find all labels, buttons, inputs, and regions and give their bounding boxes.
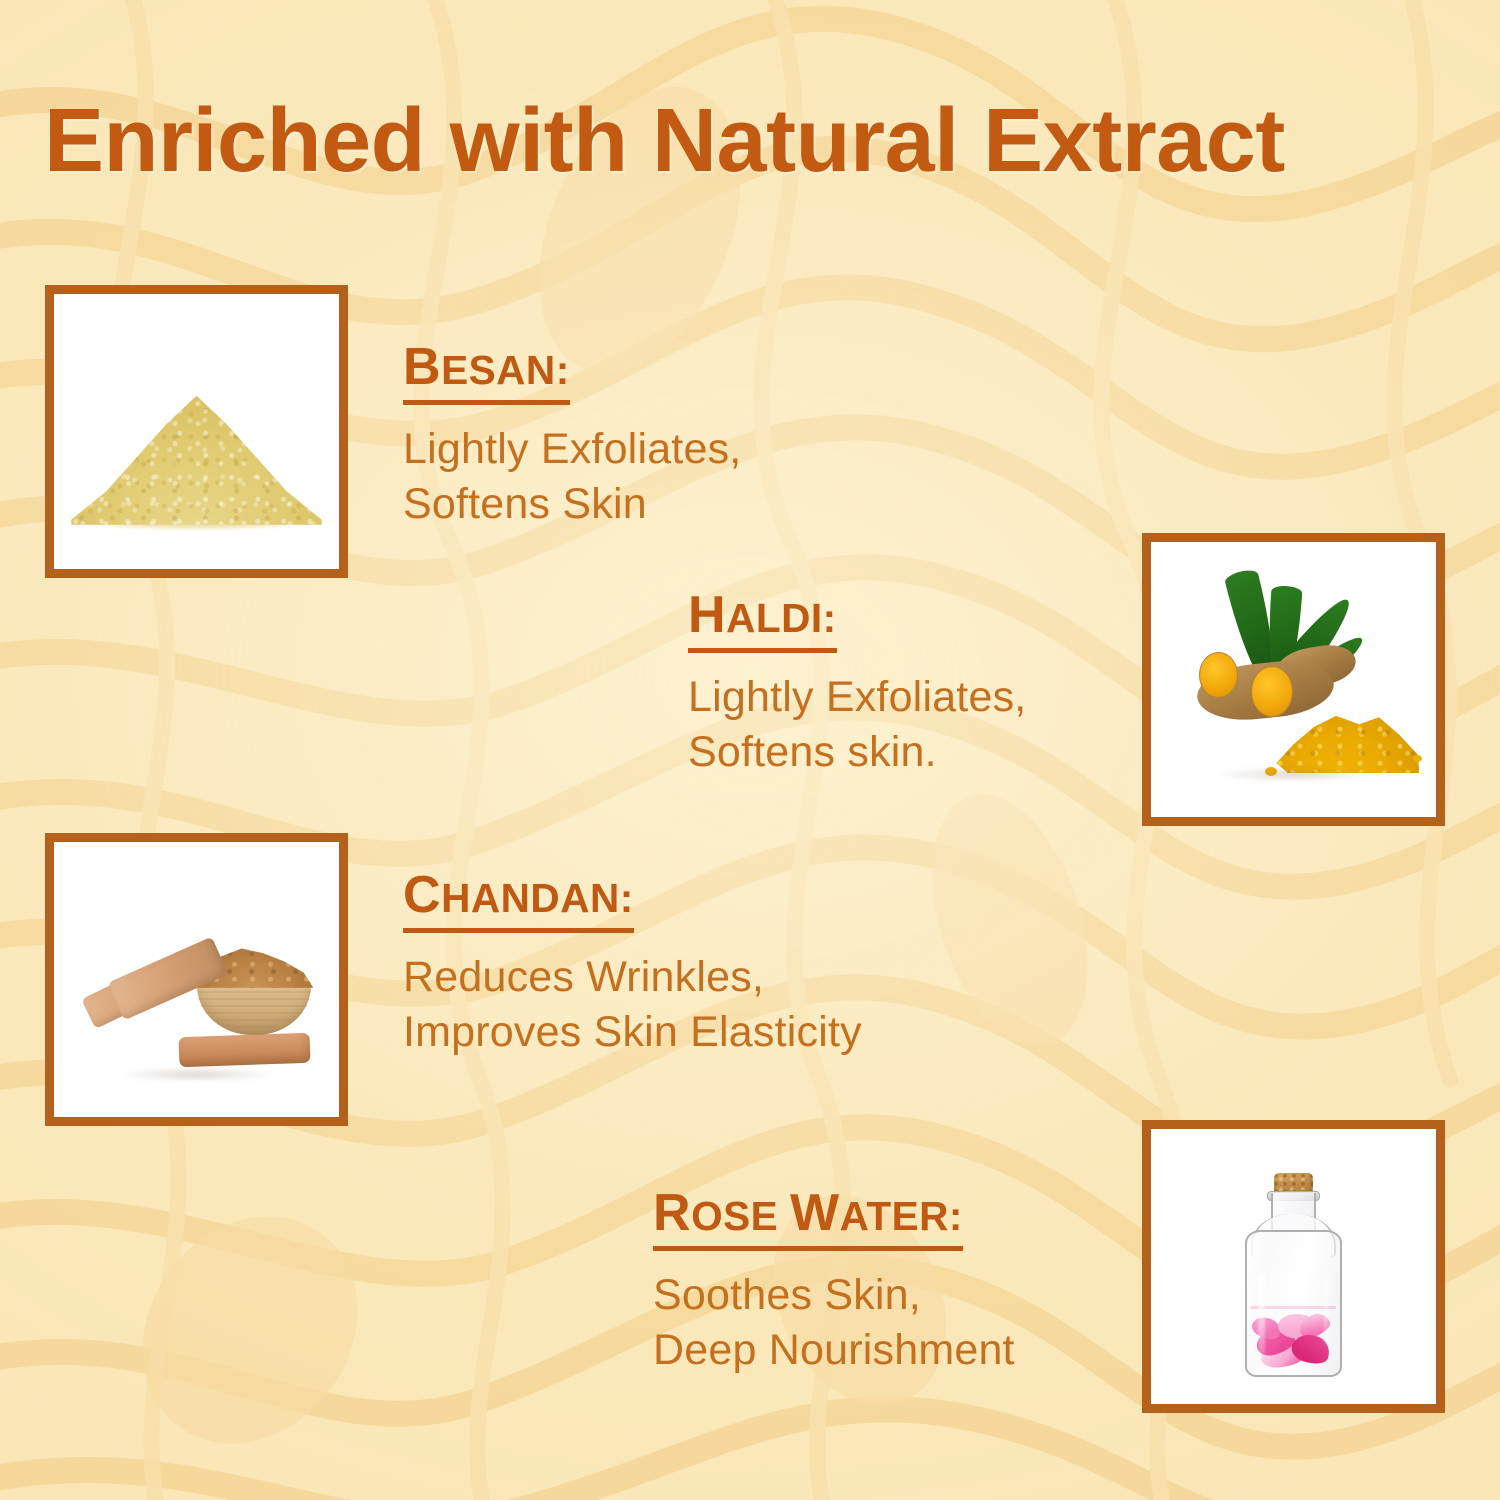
glass-highlight bbox=[1324, 1278, 1328, 1346]
ingredient-block-haldi: HALDI: Lightly Exfoliates, Softens skin. bbox=[688, 588, 1026, 780]
besan-powder-pile-photo bbox=[54, 294, 339, 569]
chandan-heading-initial: C bbox=[403, 866, 441, 924]
besan-heading-smallcaps: ESAN: bbox=[441, 347, 570, 393]
ingredient-block-chandan: CHANDAN: Reduces Wrinkles, Improves Skin… bbox=[403, 868, 862, 1060]
rosewater-heading-initial: R bbox=[653, 1184, 691, 1242]
rosewater-heading-smallcaps: ATER: bbox=[840, 1193, 963, 1239]
turmeric-shadow bbox=[1185, 765, 1402, 784]
rosewater-heading-initial-two: W bbox=[790, 1184, 840, 1242]
turmeric-crumb bbox=[1413, 755, 1422, 762]
besan-heading: BESAN: bbox=[403, 340, 570, 405]
chandan-heading-smallcaps: HANDAN: bbox=[441, 875, 634, 921]
rosewater-heading: ROSE WATER: bbox=[653, 1186, 963, 1251]
rosewater-description: Soothes Skin, Deep Nourishment bbox=[653, 1268, 1015, 1378]
haldi-heading: HALDI: bbox=[688, 588, 837, 653]
haldi-heading-initial: H bbox=[688, 586, 726, 644]
turmeric-cut-face bbox=[1251, 666, 1293, 718]
ingredient-block-rosewater: ROSE WATER: Soothes Skin, Deep Nourishme… bbox=[653, 1186, 1015, 1378]
haldi-heading-smallcaps: ALDI: bbox=[726, 595, 837, 641]
infographic-canvas: Enriched with Natural Extract BESAN: Lig… bbox=[0, 0, 1500, 1500]
chandan-description: Reduces Wrinkles, Improves Skin Elastici… bbox=[403, 950, 862, 1060]
bottle-body bbox=[1245, 1230, 1342, 1377]
chandan-image-frame bbox=[45, 833, 348, 1126]
chandan-heading: CHANDAN: bbox=[403, 868, 634, 933]
chandan-sandalwood-photo bbox=[54, 842, 339, 1117]
sandalwood-plank bbox=[179, 1032, 311, 1067]
besan-powder-texture bbox=[71, 396, 322, 525]
glass-highlight bbox=[1258, 1272, 1265, 1355]
rose-water-bottle-photo bbox=[1151, 1129, 1436, 1404]
rosewater-heading-mid: OSE bbox=[691, 1193, 790, 1239]
haldi-turmeric-root-photo bbox=[1151, 542, 1436, 817]
haldi-image-frame bbox=[1142, 533, 1445, 826]
chandan-shadow bbox=[88, 1065, 305, 1084]
rosewater-image-frame bbox=[1142, 1120, 1445, 1413]
ingredient-block-besan: BESAN: Lightly Exfoliates, Softens Skin bbox=[403, 340, 741, 532]
haldi-description: Lightly Exfoliates, Softens skin. bbox=[688, 670, 1026, 780]
glass-bottle bbox=[1245, 1173, 1342, 1377]
besan-description: Lightly Exfoliates, Softens Skin bbox=[403, 422, 741, 532]
besan-heading-initial: B bbox=[403, 338, 441, 396]
page-title: Enriched with Natural Extract bbox=[44, 96, 1285, 186]
besan-image-frame bbox=[45, 285, 348, 578]
wooden-bowl-grain bbox=[197, 991, 311, 1030]
